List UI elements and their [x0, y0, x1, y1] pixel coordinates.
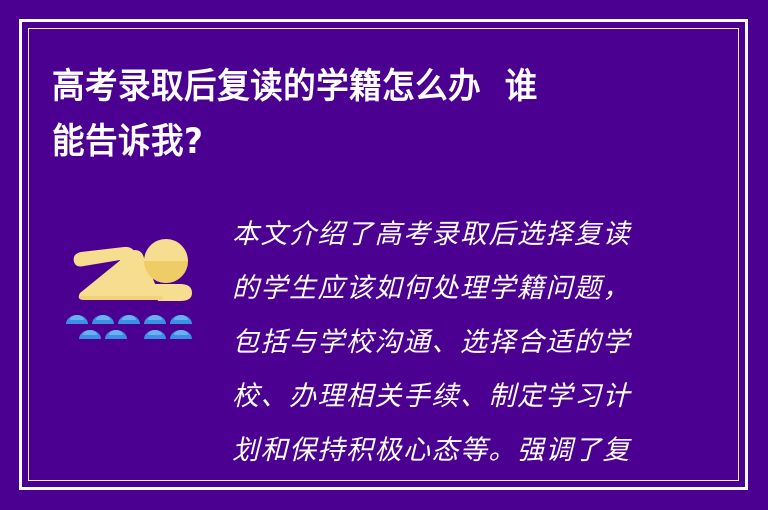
swimmer-icon [62, 228, 196, 340]
article-summary-line: 本文介绍了高考录取后选择复读 [232, 208, 652, 262]
article-summary: 本文介绍了高考录取后选择复读 的学生应该如何处理学籍问题， 包括与学校沟通、选择… [232, 208, 652, 478]
page-title-line-1: 高考录取后复读的学籍怎么办 谁 [52, 67, 538, 107]
article-summary-line: 的学生应该如何处理学籍问题， [232, 262, 652, 316]
poster-canvas: 高考录取后复读的学籍怎么办 谁能告诉我? [0, 0, 768, 510]
page-title-line-2: 能告诉我? [52, 122, 203, 162]
article-summary-line: 校、办理相关手续、制定学习计 [232, 370, 652, 424]
article-summary-line: 划和保持积极心态等。强调了复 [232, 424, 652, 478]
article-summary-line: 包括与学校沟通、选择合适的学 [232, 316, 652, 370]
page-title: 高考录取后复读的学籍怎么办 谁能告诉我? [52, 60, 647, 170]
